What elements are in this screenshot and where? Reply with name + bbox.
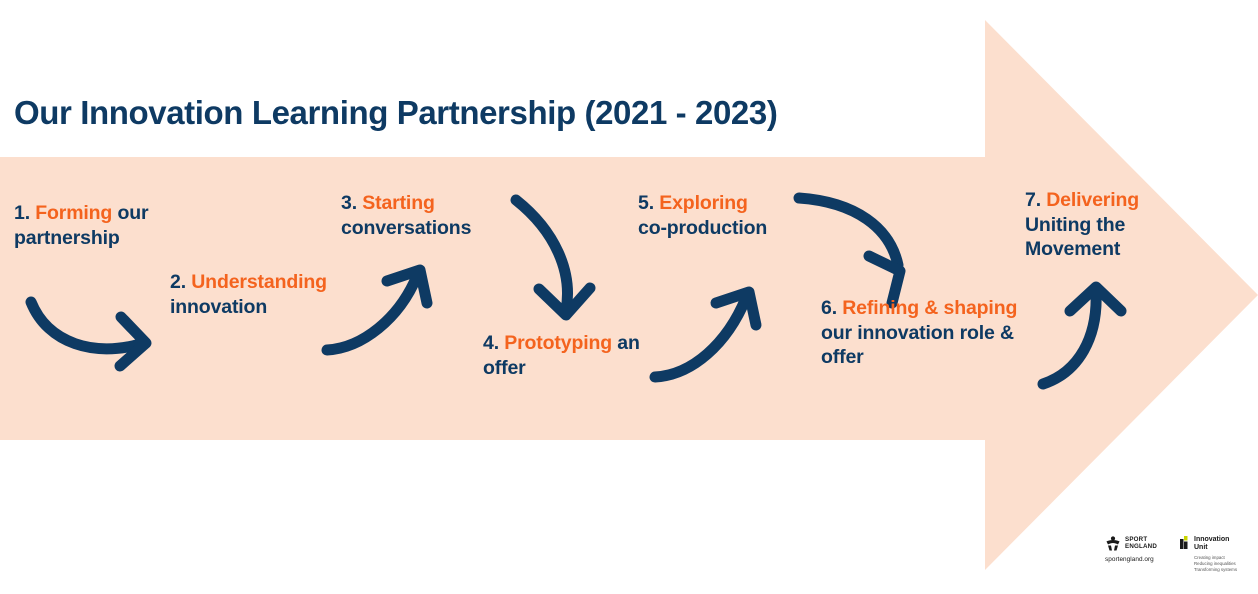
step-2[interactable]: 2. Understanding innovation bbox=[170, 270, 370, 319]
sport-england-wordmark: SPORT ENGLAND bbox=[1125, 537, 1157, 550]
innovation-unit-wordmark: Innovation Unit bbox=[1194, 536, 1229, 552]
step-5-highlight: Exploring bbox=[659, 192, 748, 214]
page-title: Our Innovation Learning Partnership (202… bbox=[14, 94, 777, 132]
logo-row: SPORT ENGLAND sportengland.org Innovatio… bbox=[1105, 536, 1255, 588]
step-6-rest: our innovation role & offer bbox=[821, 322, 1014, 369]
step-5-rest: co-production bbox=[638, 217, 767, 239]
step-7[interactable]: 7. Delivering Uniting the Movement bbox=[1025, 188, 1170, 262]
connector-1-2-icon bbox=[31, 302, 146, 366]
connector-6-7-icon bbox=[1043, 287, 1121, 384]
innovation-unit-tagline-line3: Transforming systems bbox=[1194, 567, 1254, 573]
step-1-highlight: Forming bbox=[35, 202, 112, 224]
sport-england-name-line2: ENGLAND bbox=[1125, 544, 1157, 551]
step-5[interactable]: 5. Exploring co-production bbox=[638, 191, 773, 240]
step-2-highlight: Understanding bbox=[191, 271, 327, 293]
sport-england-mark-icon bbox=[1105, 536, 1121, 551]
step-3-rest: conversations bbox=[341, 217, 471, 239]
step-2-rest: innovation bbox=[170, 296, 267, 318]
step-3[interactable]: 3. Starting conversations bbox=[341, 191, 516, 240]
sport-england-logo[interactable]: SPORT ENGLAND sportengland.org bbox=[1105, 536, 1171, 563]
step-6-number: 6. bbox=[821, 297, 837, 319]
connector-4-5-icon bbox=[655, 292, 756, 377]
step-7-highlight: Delivering bbox=[1046, 189, 1139, 211]
step-3-number: 3. bbox=[341, 192, 357, 214]
innovation-unit-mark-icon bbox=[1180, 536, 1191, 549]
step-2-number: 2. bbox=[170, 271, 186, 293]
connector-5-6-icon bbox=[799, 198, 900, 303]
step-7-rest: Uniting the Movement bbox=[1025, 214, 1125, 261]
step-4[interactable]: 4. Prototyping an offer bbox=[483, 331, 653, 380]
connector-3-4-icon bbox=[516, 200, 590, 315]
step-6-highlight: Refining & shaping bbox=[842, 297, 1017, 319]
step-6[interactable]: 6. Refining & shaping our innovation rol… bbox=[821, 296, 1026, 370]
step-4-number: 4. bbox=[483, 332, 499, 354]
step-4-highlight: Prototyping bbox=[504, 332, 612, 354]
innovation-unit-name-line2: Unit bbox=[1194, 544, 1229, 552]
step-1[interactable]: 1. Forming our partnership bbox=[14, 201, 174, 250]
step-5-number: 5. bbox=[638, 192, 654, 214]
innovation-unit-name-line1: Innovation bbox=[1194, 536, 1229, 544]
slide-canvas: Our Innovation Learning Partnership (202… bbox=[0, 0, 1258, 594]
step-3-highlight: Starting bbox=[362, 192, 434, 214]
step-7-number: 7. bbox=[1025, 189, 1041, 211]
innovation-unit-tagline: Creating impact Reducing inequalities Tr… bbox=[1194, 555, 1254, 574]
step-1-number: 1. bbox=[14, 202, 30, 224]
sport-england-url[interactable]: sportengland.org bbox=[1105, 556, 1171, 563]
innovation-unit-logo[interactable]: Innovation Unit Creating impact Reducing… bbox=[1180, 536, 1254, 574]
